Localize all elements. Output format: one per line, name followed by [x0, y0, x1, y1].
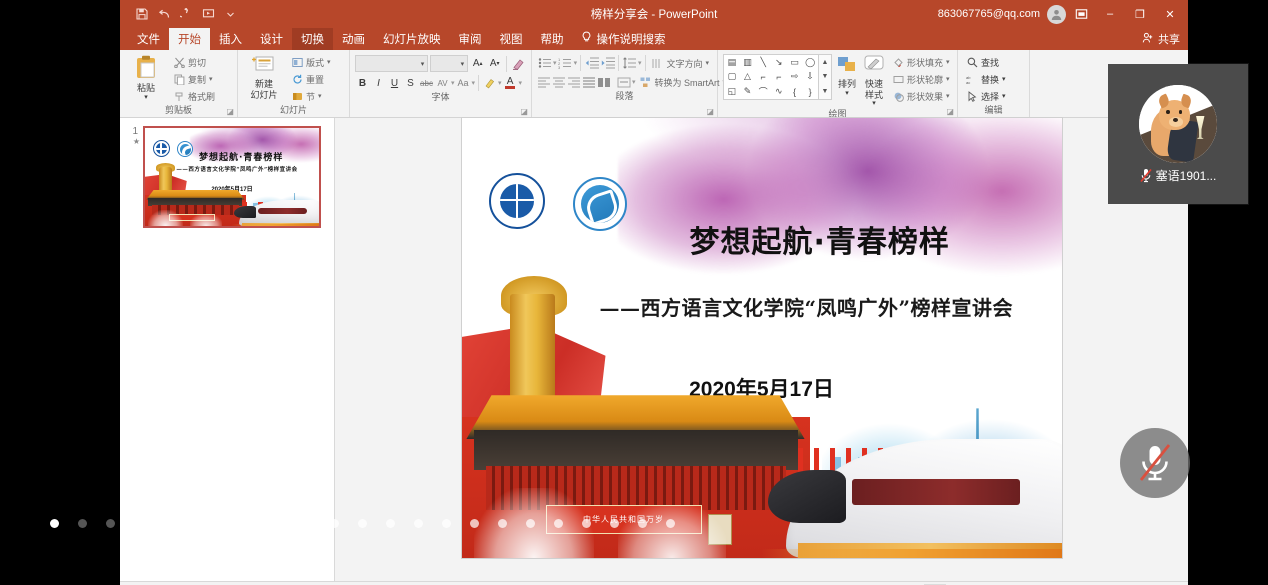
guangdong-university-foreign-studies-logo [489, 173, 545, 229]
account-email[interactable]: 863067765@qq.com [938, 8, 1040, 20]
text-direction-button[interactable]: 文字方向 ▾ [648, 55, 712, 71]
chevron-down-icon[interactable]: ▾ [209, 75, 213, 83]
tab-animations[interactable]: 动画 [333, 28, 374, 50]
new-slide-label-1: 新建 [255, 79, 273, 89]
chevron-down-icon[interactable]: ▾ [472, 79, 476, 87]
chevron-down-icon[interactable]: ▾ [519, 79, 523, 87]
section-button[interactable]: 节 ▾ [288, 88, 334, 104]
shape-down-arrow-icon[interactable]: ⇩ [802, 70, 818, 85]
user-avatar-icon[interactable] [1047, 5, 1066, 24]
chevron-down-icon[interactable]: ▾ [638, 59, 642, 67]
text-direction-label: 文字方向 [666, 57, 702, 70]
tiananmen-eave [474, 430, 798, 470]
tab-transitions[interactable]: 切换 [292, 28, 333, 50]
chevron-down-icon[interactable]: ▾ [318, 92, 322, 100]
chevron-down-icon[interactable]: ▾ [327, 58, 331, 66]
decrease-indent-icon[interactable] [584, 55, 599, 71]
reset-button[interactable]: 重置 [288, 71, 334, 87]
shape-fill-label: 形状填充 [907, 56, 943, 69]
share-person-icon [1142, 32, 1154, 47]
tab-file[interactable]: 文件 [128, 28, 169, 50]
font-name-input[interactable]: ▾ [355, 55, 428, 72]
paste-icon [133, 54, 159, 82]
section-label: 节 [306, 90, 315, 103]
dog-avatar [1139, 85, 1217, 163]
shape-vertical-textbox-icon[interactable]: ▥ [740, 55, 756, 70]
svg-text:3: 3 [558, 65, 561, 69]
replace-button[interactable]: abac 替换 ▾ [963, 71, 1009, 87]
font-size-input[interactable]: ▾ [430, 55, 468, 72]
chevron-down-icon[interactable]: ▾ [1002, 75, 1006, 83]
mic-muted-large-icon [1136, 441, 1174, 485]
ribbon-group-font: ▾ ▾ A▴ A▾ B [350, 50, 532, 117]
shape-arc-icon[interactable]: ⌒ [755, 84, 771, 99]
work-area: 1 ★ 梦想起航·青春榜样 ——西方语言文化学院“凤鸣广外”榜样宣讲会 2020… [120, 118, 1188, 581]
shape-right-brace-icon[interactable]: } [802, 84, 818, 99]
clipboard-group-label: 剪贴板 [125, 104, 232, 117]
slides-group-label: 幻灯片 [243, 104, 344, 117]
chevron-down-icon[interactable]: ▾ [632, 78, 636, 86]
shape-rectangle-icon[interactable]: ▭ [787, 55, 803, 70]
quick-access-toolbar [120, 4, 240, 24]
shape-outline-label: 形状轮廓 [907, 73, 943, 86]
replace-label: 替换 [981, 73, 999, 86]
shapes-gallery-scrollbar[interactable]: ▲ ▼ ▼ [819, 54, 832, 100]
shape-fill-button[interactable]: 形状填充 ▾ [889, 54, 953, 70]
tab-home[interactable]: 开始 [169, 28, 210, 50]
shape-curve-icon[interactable]: ∿ [771, 84, 787, 99]
tell-me-search[interactable]: 操作说明搜索 [573, 28, 674, 50]
quick-styles-icon [862, 54, 886, 78]
shape-elbow-arrow-icon[interactable]: ⌐ [771, 70, 787, 85]
numbered-list-icon[interactable]: 123 [558, 55, 573, 71]
ribbon-group-clipboard: 粘贴 ▾ 剪切 [120, 50, 238, 117]
align-right-icon[interactable] [567, 74, 581, 90]
reset-label: 重置 [306, 73, 324, 86]
fountain-left [474, 488, 594, 558]
ribbon-group-slides: 新建 幻灯片 版式 ▾ [238, 50, 350, 117]
train-windows [852, 479, 1020, 505]
underline-button[interactable]: U [387, 75, 402, 91]
font-color-button[interactable]: A [503, 75, 518, 91]
shape-triangle-icon[interactable]: △ [740, 70, 756, 85]
tell-me-label: 操作说明搜索 [597, 31, 666, 47]
shape-fill-icon [892, 56, 904, 68]
thumbnail-item-1[interactable]: 1 ★ 梦想起航·青春榜样 ——西方语言文化学院“凤鸣广外”榜样宣讲会 2020… [126, 126, 328, 228]
ribbon: 粘贴 ▾ 剪切 [120, 50, 1188, 118]
shape-oval-icon[interactable]: ◯ [802, 55, 818, 70]
thumbnail-title: 梦想起航·青春榜样 [199, 150, 283, 163]
increase-indent-icon[interactable] [600, 55, 615, 71]
chevron-down-icon[interactable]: ▾ [705, 59, 709, 67]
tab-insert[interactable]: 插入 [210, 28, 251, 50]
share-label: 共享 [1158, 31, 1180, 47]
shape-line-icon[interactable]: ╲ [755, 55, 771, 70]
clipboard-dialog-launcher[interactable]: ◪ [226, 107, 234, 116]
new-slide-button[interactable]: 新建 幻灯片 [243, 52, 285, 100]
chevron-down-icon[interactable]: ▾ [553, 59, 557, 67]
chevron-down-icon[interactable]: ▾ [144, 94, 148, 102]
find-button[interactable]: 查找 [963, 54, 1009, 70]
paste-label: 粘贴 [137, 83, 155, 93]
shape-effects-button[interactable]: 形状效果 ▾ [889, 88, 953, 104]
slide-subtitle[interactable]: ——西方语言文化学院“凤鸣广外”榜样宣讲会 [600, 292, 1014, 321]
copy-label: 复制 [188, 73, 206, 86]
smartart-icon [640, 76, 652, 88]
reset-icon [291, 73, 303, 85]
arrange-button[interactable]: 排列 ▾ [835, 52, 859, 98]
undo-icon[interactable] [154, 4, 174, 24]
mute-toggle-button[interactable] [1120, 428, 1190, 498]
smartart-button[interactable]: 转换为 SmartArt ▾ [637, 74, 730, 90]
chevron-down-icon[interactable]: ▾ [574, 59, 578, 67]
ribbon-tab-strip: 文件 开始 插入 设计 切换 动画 幻灯片放映 审阅 视图 帮助 操作说明搜索 … [120, 28, 1188, 50]
font-color-letter: A [507, 78, 514, 86]
restore-button[interactable]: ❐ [1126, 2, 1154, 26]
cut-button[interactable]: 剪切 [170, 54, 218, 70]
tab-slideshow[interactable]: 幻灯片放映 [374, 28, 450, 50]
participant-label: 塞语1901... [1140, 167, 1217, 184]
shape-elbow-connector-icon[interactable]: ⌐ [755, 70, 771, 85]
status-bar: 幻灯片 第 1 张，共 1 张 中文(中国) 备注 批注 [120, 581, 1188, 585]
select-button[interactable]: 选择 ▾ [963, 88, 1009, 104]
paste-button[interactable]: 粘贴 ▾ [125, 52, 167, 102]
svg-text:ac: ac [966, 80, 970, 85]
orange-bottom-stripe [462, 549, 1062, 558]
ribbon-group-drawing: ▤ ▥ ╲ ↘ ▭ ◯ ▢ △ ⌐ ⌐ ⇨ ⇩ ◱ [718, 50, 958, 117]
redo-icon[interactable] [176, 4, 196, 24]
shape-rounded-rect-icon[interactable]: ▢ [724, 70, 740, 85]
shape-outline-icon [892, 73, 904, 85]
chevron-down-icon[interactable]: ▾ [946, 75, 950, 83]
shape-flowchart-icon[interactable]: ◱ [724, 84, 740, 99]
layout-icon [291, 56, 303, 68]
screen-root: 榜样分享会 - PowerPoint 863067765@qq.com – ❐ … [0, 0, 1268, 585]
ribbon-display-options-icon[interactable] [1068, 3, 1094, 25]
text-shadow-button[interactable]: S [403, 75, 418, 91]
new-slide-label-2: 幻灯片 [250, 90, 277, 100]
paragraph-group-label: 段落 [537, 90, 712, 103]
chevron-down-icon[interactable]: ▾ [461, 60, 465, 68]
new-slide-icon [252, 54, 276, 78]
bold-button[interactable]: B [355, 75, 370, 91]
chevron-down-icon[interactable]: ▾ [1002, 92, 1006, 100]
mic-muted-icon [1140, 168, 1152, 183]
cursor-select-icon [966, 90, 978, 102]
text-direction-icon [651, 57, 663, 69]
chevron-down-icon[interactable]: ▾ [498, 79, 502, 87]
arrange-label: 排列 [838, 79, 856, 89]
editing-group-label: 编辑 [963, 104, 1024, 117]
shape-scribble-icon[interactable]: ✎ [740, 84, 756, 99]
gallery-more-icon[interactable]: ▼ [822, 88, 829, 95]
chevron-down-icon[interactable]: ▾ [845, 90, 849, 98]
chevron-down-icon[interactable]: ▾ [946, 58, 950, 66]
shape-right-arrow-icon[interactable]: ⇨ [787, 70, 803, 85]
search-icon [966, 56, 978, 68]
tab-review[interactable]: 审阅 [450, 28, 491, 50]
bullet-list-icon[interactable] [537, 55, 552, 71]
align-center-icon[interactable] [552, 74, 566, 90]
line-spacing-icon[interactable] [622, 55, 637, 71]
shape-textbox-icon[interactable]: ▤ [724, 55, 740, 70]
chevron-down-icon[interactable]: ▾ [872, 100, 876, 108]
shape-outline-button[interactable]: 形状轮廓 ▾ [889, 71, 953, 87]
thumbnail-number: 1 [126, 126, 138, 137]
tab-view[interactable]: 视图 [491, 28, 532, 50]
italic-button[interactable]: I [371, 75, 386, 91]
shapes-gallery[interactable]: ▤ ▥ ╲ ↘ ▭ ◯ ▢ △ ⌐ ⌐ ⇨ ⇩ ◱ [723, 54, 819, 100]
slide-canvas[interactable]: 梦想起航·青春榜样 ——西方语言文化学院“凤鸣广外”榜样宣讲会 2020年5月1… [462, 118, 1062, 558]
clear-formatting-icon[interactable] [511, 56, 526, 72]
slide-editing-pane[interactable]: 梦想起航·青春榜样 ——西方语言文化学院“凤鸣广外”榜样宣讲会 2020年5月1… [335, 118, 1188, 581]
save-icon[interactable] [132, 4, 152, 24]
font-group-label: 字体 [355, 91, 526, 104]
paragraph-dialog-launcher[interactable]: ◪ [706, 107, 714, 116]
replace-icon: abac [966, 73, 978, 85]
select-label: 选择 [981, 90, 999, 103]
scroll-up-icon[interactable]: ▲ [822, 59, 829, 66]
cut-label: 剪切 [188, 56, 206, 69]
thumbnail-animation-star-icon: ★ [126, 137, 140, 146]
left-letterbox [0, 0, 120, 585]
shape-arrow-icon[interactable]: ↘ [771, 55, 787, 70]
justify-icon[interactable] [582, 74, 596, 90]
shape-effects-label: 形状效果 [907, 90, 943, 103]
scissors-icon [173, 56, 185, 68]
participant-video-tile[interactable]: 塞语1901... [1108, 64, 1248, 204]
close-button[interactable]: ✕ [1156, 2, 1184, 26]
lightbulb-icon [581, 31, 592, 47]
format-painter-label: 格式刷 [188, 90, 215, 103]
thumbnail-preview[interactable]: 梦想起航·青春榜样 ——西方语言文化学院“凤鸣广外”榜样宣讲会 2020年5月1… [143, 126, 321, 228]
title-bar: 榜样分享会 - PowerPoint 863067765@qq.com – ❐ … [120, 0, 1188, 28]
quick-styles-button[interactable]: 快速样式 ▾ [862, 52, 886, 108]
quick-styles-label: 快速样式 [862, 79, 886, 100]
font-dialog-launcher[interactable]: ◪ [520, 107, 528, 116]
smartart-label: 转换为 SmartArt [655, 76, 720, 89]
shape-effects-icon [892, 90, 904, 102]
shape-left-brace-icon[interactable]: { [787, 84, 803, 99]
slide-thumbnail-pane: 1 ★ 梦想起航·青春榜样 ——西方语言文化学院“凤鸣广外”榜样宣讲会 2020… [120, 118, 335, 581]
strikethrough-button[interactable]: abc [419, 75, 434, 91]
tab-help[interactable]: 帮助 [532, 28, 573, 50]
find-label: 查找 [981, 56, 999, 69]
decrease-font-size-button[interactable]: A▾ [487, 56, 502, 72]
arrange-icon [835, 54, 859, 78]
increase-font-size-button[interactable]: A▴ [470, 56, 485, 72]
format-painter-button[interactable]: 格式刷 [170, 88, 218, 104]
share-button[interactable]: 共享 [1142, 28, 1180, 50]
align-left-icon[interactable] [537, 74, 551, 90]
align-text-icon[interactable] [617, 74, 631, 90]
chevron-down-icon[interactable]: ▾ [946, 92, 950, 100]
layout-button[interactable]: 版式 ▾ [288, 54, 334, 70]
columns-icon[interactable] [597, 74, 611, 90]
text-highlight-icon[interactable] [482, 75, 497, 91]
slideshow-icon[interactable] [198, 4, 218, 24]
copy-icon [173, 73, 185, 85]
minimize-button[interactable]: – [1096, 2, 1124, 26]
change-case-button[interactable]: Aa [456, 75, 471, 91]
tab-design[interactable]: 设计 [251, 28, 292, 50]
section-icon [291, 90, 303, 102]
character-spacing-button[interactable]: AV [435, 75, 450, 91]
chevron-down-icon[interactable]: ▾ [421, 60, 425, 68]
drawing-dialog-launcher[interactable]: ◪ [946, 107, 954, 116]
layout-label: 版式 [306, 56, 324, 69]
chevron-down-icon[interactable]: ▾ [451, 79, 455, 87]
ribbon-group-paragraph: ▾ 123 ▾ [532, 50, 718, 117]
ribbon-group-editing: 查找 abac 替换 ▾ [958, 50, 1030, 117]
slide-title[interactable]: 梦想起航·青春榜样 [690, 217, 950, 261]
copy-button[interactable]: 复制 ▾ [170, 71, 218, 87]
format-painter-icon [173, 90, 185, 102]
scroll-down-icon[interactable]: ▼ [822, 73, 829, 80]
chevron-down-icon[interactable] [220, 4, 240, 24]
powerpoint-window: 榜样分享会 - PowerPoint 863067765@qq.com – ❐ … [120, 0, 1188, 585]
participant-name: 塞语1901... [1156, 167, 1217, 184]
thumbnail-subtitle: ——西方语言文化学院“凤鸣广外”榜样宣讲会 [176, 165, 297, 173]
school-of-western-languages-logo [573, 177, 627, 231]
